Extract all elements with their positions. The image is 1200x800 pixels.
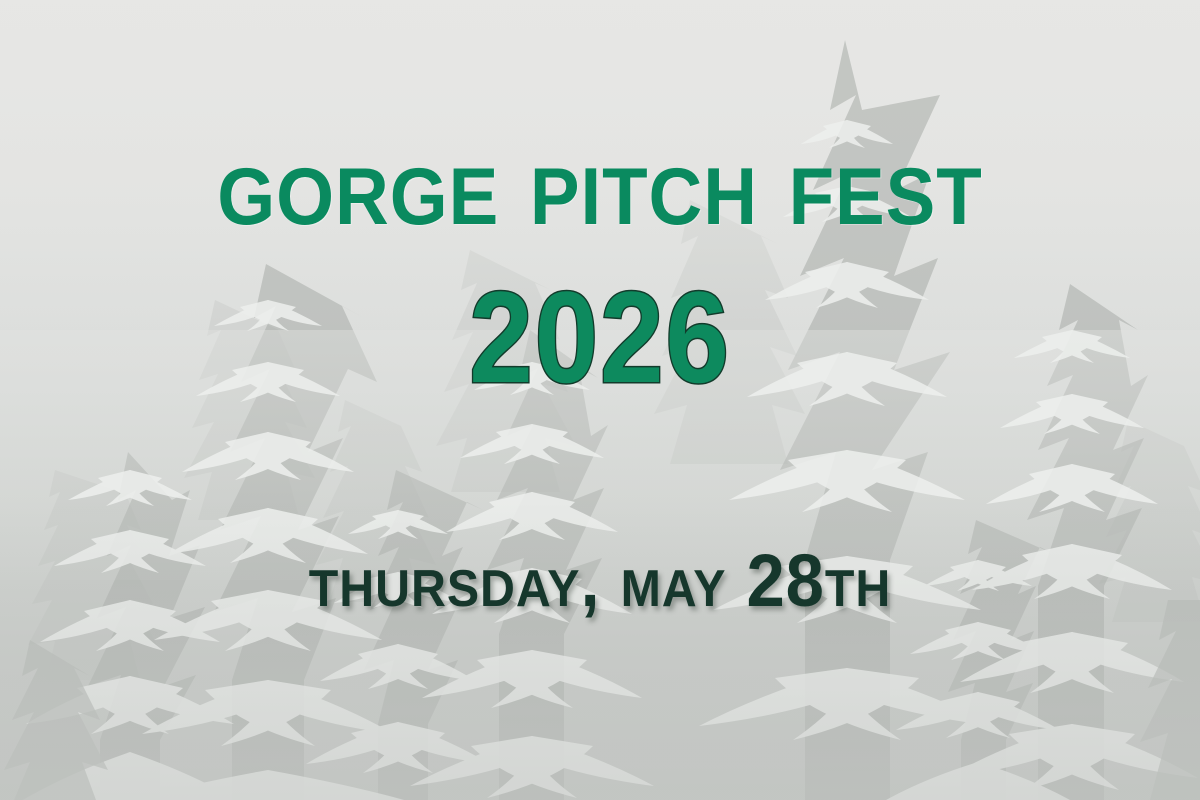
event-title: Gorge Pitch Fest	[48, 126, 1152, 242]
event-date: Thursday, May 28th	[42, 544, 1158, 618]
event-poster: Gorge Pitch Fest 2026 Thursday, May 28th	[0, 0, 1200, 800]
event-year: 2026	[72, 272, 1128, 402]
poster-text-content: Gorge Pitch Fest 2026 Thursday, May 28th	[0, 0, 1200, 800]
